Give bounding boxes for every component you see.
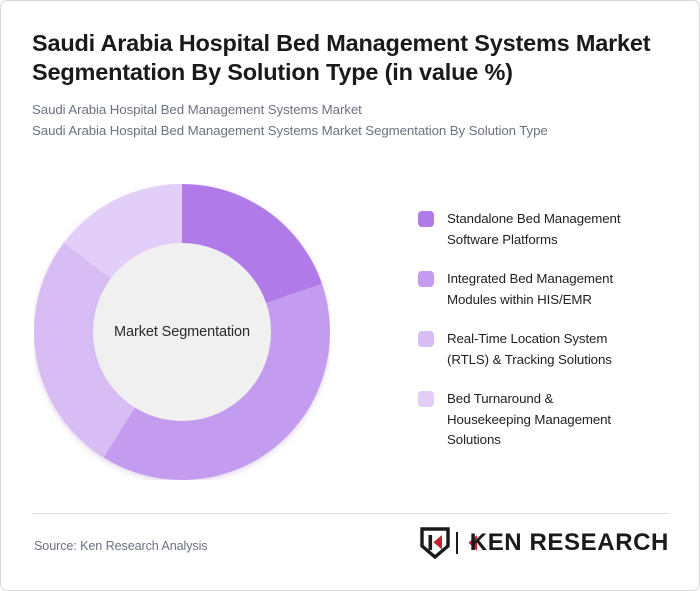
legend-label-line-1: Integrated Bed Management: [447, 271, 613, 286]
chart-card: Saudi Arabia Hospital Bed Management Sys…: [0, 0, 700, 591]
subtitle-line-1: Saudi Arabia Hospital Bed Management Sys…: [32, 99, 652, 120]
legend-label-line-2: Housekeeping Management: [447, 412, 611, 427]
legend-item-standalone-bed-management-software-platforms[interactable]: Standalone Bed Management Software Platf…: [418, 209, 678, 250]
chart-legend: Standalone Bed Management Software Platf…: [418, 209, 678, 470]
legend-label-line-1: Real-Time Location System: [447, 331, 607, 346]
legend-swatch-icon: [418, 211, 434, 227]
logo-text-label: KEN RESEARCH: [470, 529, 669, 557]
logo-wordmark: KEN RESEARCH: [465, 529, 669, 557]
logo-divider: [456, 532, 458, 554]
donut-chart: Market Segmentation: [34, 184, 330, 480]
ken-shield-icon: [420, 527, 450, 559]
legend-swatch-icon: [418, 391, 434, 407]
legend-item-label: Standalone Bed Management Software Platf…: [447, 209, 620, 250]
chart-body: Market Segmentation Standalone Bed Manag…: [1, 171, 700, 501]
source-text: Source: Ken Research Analysis: [34, 539, 208, 553]
footer-divider: [32, 513, 670, 514]
legend-label-line-2: Software Platforms: [447, 232, 558, 247]
legend-item-label: Integrated Bed Management Modules within…: [447, 269, 613, 310]
ken-research-logo: KEN RESEARCH: [420, 526, 669, 560]
subtitle-line-2: Saudi Arabia Hospital Bed Management Sys…: [32, 120, 652, 141]
donut-chart-svg: [34, 184, 330, 480]
subtitle-block: Saudi Arabia Hospital Bed Management Sys…: [32, 99, 652, 141]
page-title: Saudi Arabia Hospital Bed Management Sys…: [32, 29, 652, 87]
legend-label-line-3: Solutions: [447, 432, 501, 447]
legend-item-real-time-location-system-rtls-tracking-solutions[interactable]: Real-Time Location System (RTLS) & Track…: [418, 329, 678, 370]
legend-item-bed-turnaround-housekeeping-management-solutions[interactable]: Bed Turnaround & Housekeeping Management…: [418, 389, 678, 451]
legend-item-integrated-bed-management-modules-within-his-emr[interactable]: Integrated Bed Management Modules within…: [418, 269, 678, 310]
legend-label-line-2: (RTLS) & Tracking Solutions: [447, 352, 612, 367]
legend-label-line-1: Standalone Bed Management: [447, 211, 620, 226]
legend-swatch-icon: [418, 331, 434, 347]
donut-hole: [93, 243, 271, 421]
legend-label-line-1: Bed Turnaround &: [447, 391, 553, 406]
legend-item-label: Real-Time Location System (RTLS) & Track…: [447, 329, 612, 370]
legend-swatch-icon: [418, 271, 434, 287]
legend-item-label: Bed Turnaround & Housekeeping Management…: [447, 389, 611, 451]
legend-label-line-2: Modules within HIS/EMR: [447, 292, 592, 307]
chart-header: Saudi Arabia Hospital Bed Management Sys…: [32, 29, 652, 141]
